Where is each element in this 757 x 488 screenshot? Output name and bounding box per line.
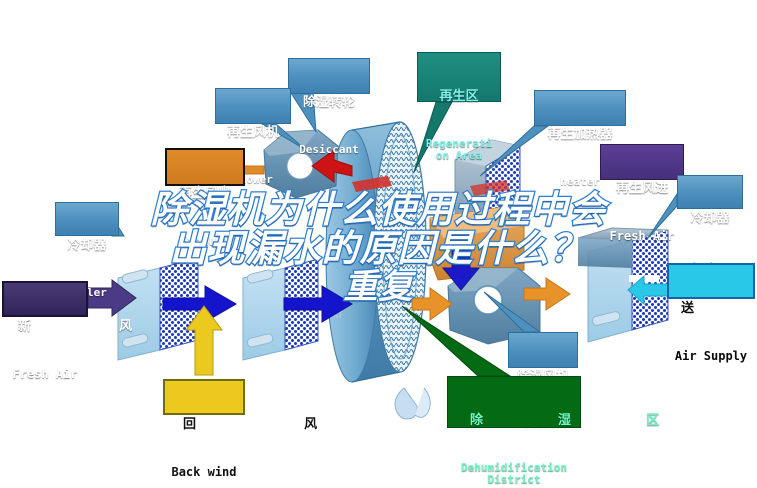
label-regeneration-fresh-air-cn: 再生风进 [601,182,683,196]
water-drop [395,388,430,419]
label-fresh-air-cn: 新 风 [4,320,86,334]
label-exhaust-cn: 再生风出 [167,187,243,201]
label-desiccant-wheel-cn: 除湿转轮 [289,96,369,110]
label-exhaust-en: Exhaust [167,235,243,248]
label-regeneration-heater-cn: 再生加热器 [535,128,625,142]
label-dehumidification-district-cn: 除 湿 区 [448,414,580,428]
label-regeneration-fresh-air: 再生风进 Fresh Air [600,144,684,180]
diagram-canvas: xf [0,0,757,488]
label-regeneration-blower: 再生风机 Blower [215,88,291,124]
label-regeneration-area-cn: 再生区 [418,90,500,104]
label-air-supply: 送 风 Air Supply [667,263,755,299]
label-back-wind-en: Back wind [165,466,243,479]
label-regeneration-blower-cn: 再生风机 [216,126,290,140]
label-exhaust: 再生风出 Exhaust [165,148,245,186]
label-cooler-right-cn: 冷却器 [678,212,742,226]
label-cooler-right: 冷却器 Cooler [677,175,743,209]
label-air-supply-en: Air Supply [669,350,753,363]
label-regeneration-area-en: Regenerati on Area [418,138,500,162]
label-dehumidification-blower: 除湿风机 Blower [508,332,578,368]
label-regeneration-area: 再生区 Regenerati on Area [417,52,501,102]
label-dehumidification-district: 除 湿 区 Dehumidification District [447,376,581,428]
label-regeneration-heater: 再生加热器 heater [534,90,626,126]
label-air-supply-cn: 送 风 [669,302,753,316]
label-desiccant-wheel: 除湿转轮 Desiccant [288,58,370,94]
label-desiccant-wheel-en: Desiccant [289,144,369,156]
label-cooler-left: 冷却器 Cooler [55,202,119,236]
label-back-wind: 回 风 Back wind [163,379,245,415]
label-fresh-air-en: Fresh Air [4,368,86,381]
label-regeneration-fresh-air-en: Fresh Air [601,230,683,243]
label-back-wind-cn: 回 风 [165,418,243,432]
label-fresh-air: 新 风 Fresh Air [2,281,88,317]
label-cooler-left-cn: 冷却器 [56,239,118,253]
label-dehumidification-district-en: Dehumidification District [448,462,580,486]
